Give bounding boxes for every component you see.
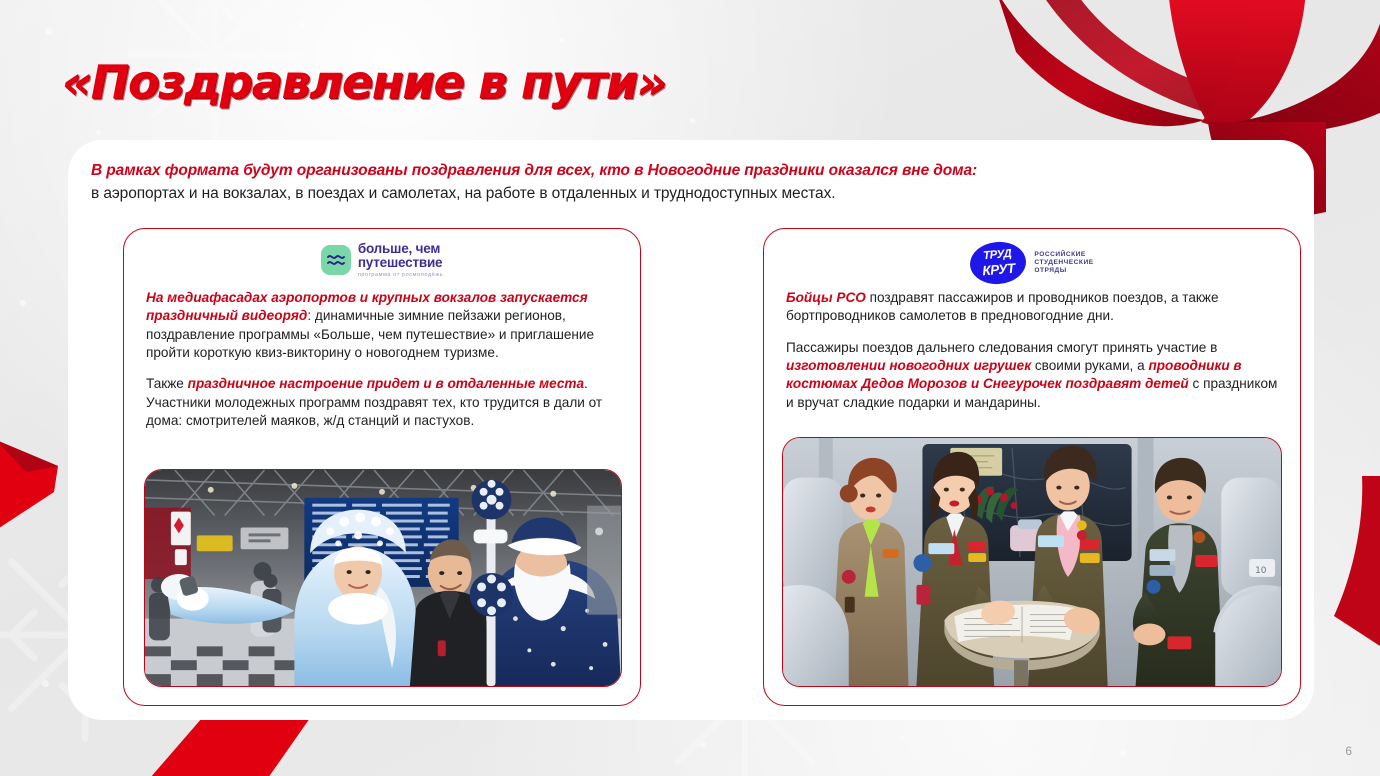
highlight-text: изготовлении новогодних игрушек bbox=[786, 358, 1031, 373]
ribbon-bottom-decoration bbox=[150, 718, 330, 776]
trud-krut-oval-icon: ТРУД КРУТ bbox=[969, 240, 1028, 287]
intro-sub-text: в аэропортах и на вокзалах, в поездах и … bbox=[91, 182, 1271, 207]
rso-word-1: РОССИЙСКИЕ bbox=[1034, 251, 1093, 259]
logo-line-1: больше, чем bbox=[358, 242, 443, 256]
body-prefix: Также bbox=[146, 376, 188, 391]
content-panel: В рамках формата будут организованы позд… bbox=[68, 140, 1314, 720]
bolshe-chem-puteshestvie-logo: больше, чем путешествие программа от рос… bbox=[321, 242, 443, 278]
highlight-text: праздничное настроение придет и в отдале… bbox=[188, 376, 584, 391]
oval-line-2: КРУТ bbox=[982, 261, 1016, 277]
rso-word-3: ОТРЯДЫ bbox=[1034, 267, 1093, 275]
highlight-text: Бойцы РСО bbox=[786, 290, 866, 305]
svg-text:10: 10 bbox=[1255, 566, 1267, 576]
card-media-facades[interactable]: больше, чем путешествие программа от рос… bbox=[123, 228, 641, 706]
wave-icon bbox=[321, 245, 351, 275]
student-brigade-train-photo: 10 bbox=[782, 437, 1282, 687]
airport-ded-moroz-snegurochka-photo bbox=[144, 469, 622, 687]
paragraph-remote-places: Также праздничное настроение придет и в … bbox=[146, 375, 620, 430]
body-prefix: Пассажиры поездов дальнего следования см… bbox=[786, 340, 1217, 355]
logo-tagline: программа от росмолодёжь bbox=[358, 273, 443, 279]
card-right-logo-wrap: ТРУД КРУТ РОССИЙСКИЕ СТУДЕНЧЕСКИЕ ОТРЯДЫ bbox=[764, 242, 1300, 284]
page-title: «Поздравление в пути» bbox=[62, 55, 666, 109]
paragraph-media-facades: На медиафасадах аэропортов и крупных вок… bbox=[146, 289, 620, 362]
card-rso-greetings[interactable]: ТРУД КРУТ РОССИЙСКИЕ СТУДЕНЧЕСКИЕ ОТРЯДЫ… bbox=[763, 228, 1301, 706]
card-right-body: Бойцы РСО поздравят пассажиров и проводн… bbox=[786, 289, 1280, 412]
card-left-body: На медиафасадах аэропортов и крупных вок… bbox=[146, 289, 620, 430]
body-mid: своими руками, а bbox=[1031, 358, 1148, 373]
paragraph-long-distance-passengers: Пассажиры поездов дальнего следования см… bbox=[786, 339, 1280, 412]
paragraph-rso-fighters: Бойцы РСО поздравят пассажиров и проводн… bbox=[786, 289, 1280, 326]
rso-word-2: СТУДЕНЧЕСКИЕ bbox=[1034, 259, 1093, 267]
card-left-logo-wrap: больше, чем путешествие программа от рос… bbox=[124, 242, 640, 278]
rso-trud-krut-logo: ТРУД КРУТ РОССИЙСКИЕ СТУДЕНЧЕСКИЕ ОТРЯДЫ bbox=[970, 242, 1093, 284]
logo-line-2: путешествие bbox=[358, 256, 443, 270]
intro-block: В рамках формата будут организованы позд… bbox=[91, 160, 1271, 207]
ribbon-left-decoration bbox=[0, 440, 66, 530]
page-number: 6 bbox=[1345, 744, 1352, 758]
slide-canvas: «Поздравление в пути» В рамках формата б… bbox=[0, 0, 1380, 776]
intro-lead-text: В рамках формата будут организованы позд… bbox=[91, 160, 1271, 182]
